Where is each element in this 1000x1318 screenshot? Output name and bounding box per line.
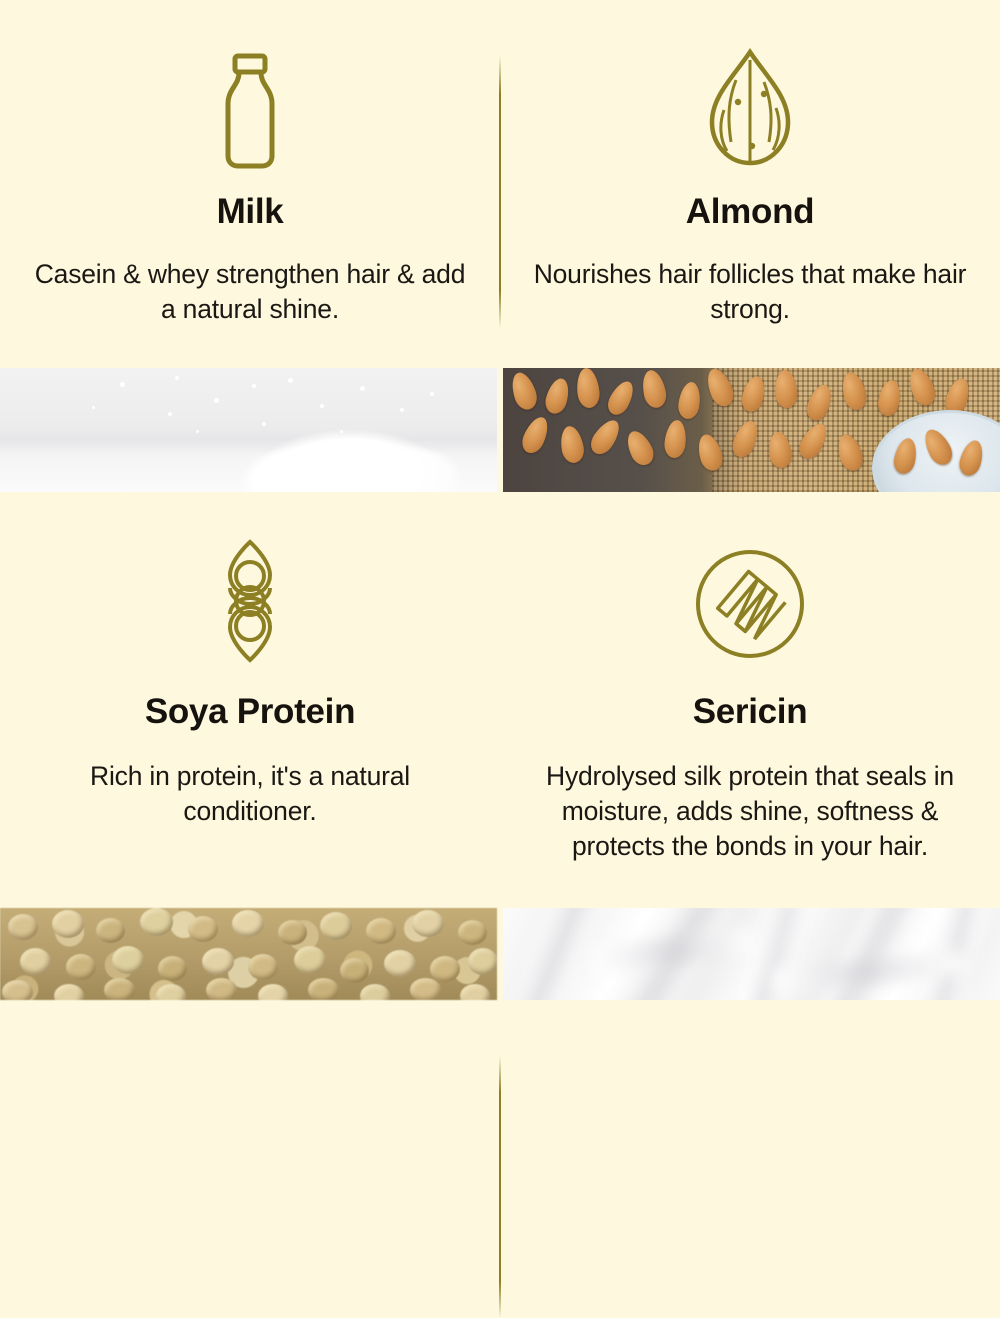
ingredient-benefits-infographic: Milk Casein & whey strengthen hair & add… bbox=[0, 0, 1000, 1000]
feature-row-top: Milk Casein & whey strengthen hair & add… bbox=[0, 0, 1000, 368]
feature-card-almond: Almond Nourishes hair follicles that mak… bbox=[500, 0, 1000, 368]
almonds-on-burlap-photo bbox=[503, 368, 1000, 492]
sericin-silk-icon bbox=[690, 500, 810, 664]
feature-description: Hydrolysed silk protein that seals in mo… bbox=[530, 759, 970, 864]
feature-row-bottom: Soya Protein Rich in protein, it's a nat… bbox=[0, 500, 1000, 908]
photo-strip-middle bbox=[0, 368, 1000, 492]
photo-strip-bottom bbox=[0, 908, 1000, 1000]
column-divider bbox=[499, 1056, 501, 1318]
feature-title: Soya Protein bbox=[145, 694, 355, 729]
feature-title: Almond bbox=[686, 194, 814, 229]
feature-title: Milk bbox=[217, 194, 284, 229]
feature-description: Casein & whey strengthen hair & add a na… bbox=[30, 257, 470, 327]
milk-bottle-icon bbox=[215, 0, 285, 170]
soya-pod-icon bbox=[212, 500, 288, 664]
milk-splash-photo bbox=[0, 368, 497, 492]
column-divider bbox=[499, 56, 501, 328]
feature-card-milk: Milk Casein & whey strengthen hair & add… bbox=[0, 0, 500, 368]
almond-nut-icon bbox=[702, 0, 798, 170]
feature-title: Sericin bbox=[693, 694, 808, 729]
feature-description: Rich in protein, it's a natural conditio… bbox=[30, 759, 470, 829]
feature-card-sericin: Sericin Hydrolysed silk protein that sea… bbox=[500, 500, 1000, 908]
soya-beans-photo bbox=[0, 908, 497, 1000]
white-silk-fabric-photo bbox=[503, 908, 1000, 1000]
feature-card-soya-protein: Soya Protein Rich in protein, it's a nat… bbox=[0, 500, 500, 908]
feature-description: Nourishes hair follicles that make hair … bbox=[530, 257, 970, 327]
